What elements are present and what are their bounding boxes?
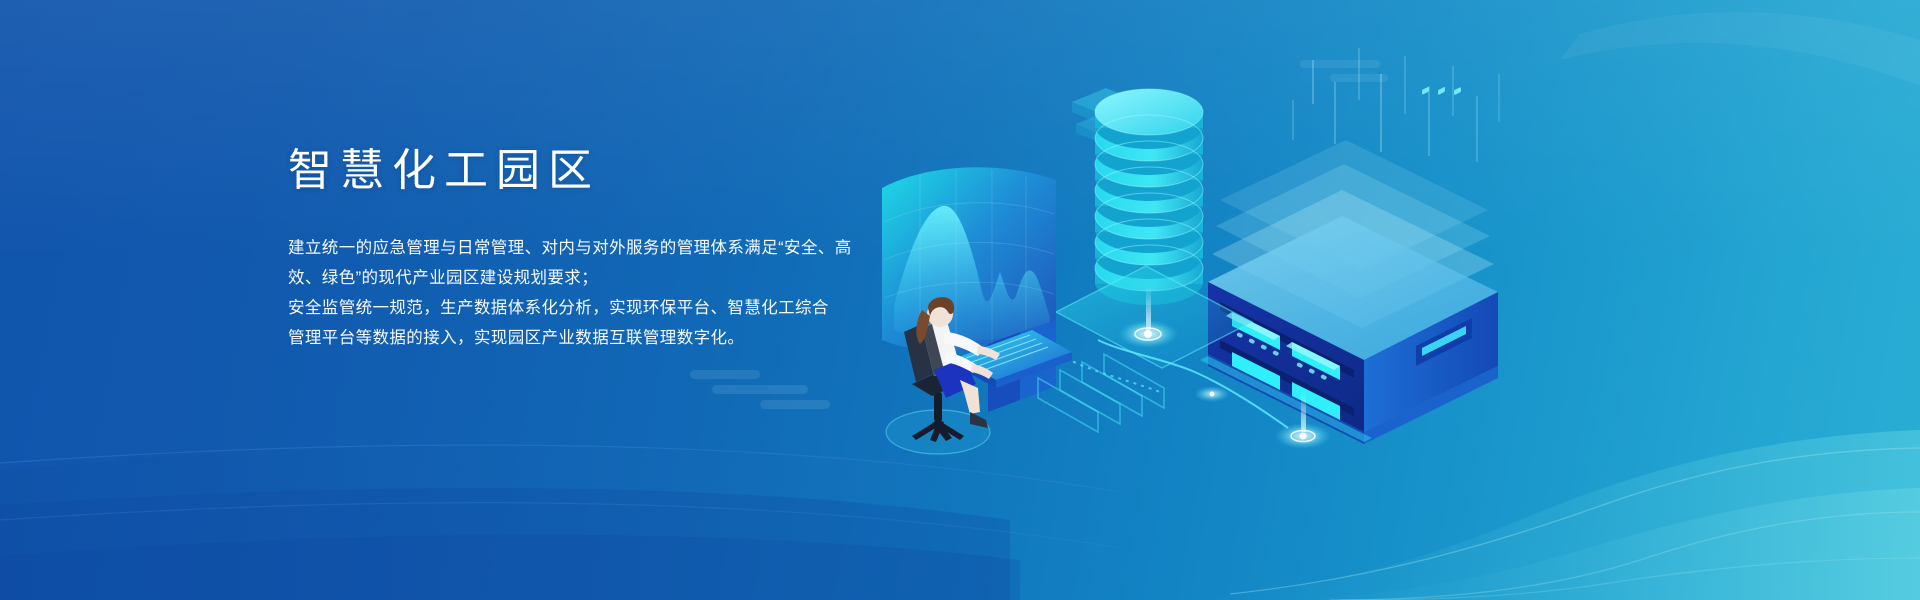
floor-glow-node-secondary: [1194, 386, 1230, 402]
wave-bottom-left-2: [0, 488, 1010, 600]
description-line-1: 建立统一的应急管理与日常管理、对内与对外服务的管理体系满足“安全、高: [288, 233, 888, 263]
wave-line-right-1: [1230, 448, 1920, 594]
wave-bottom-left-3: [0, 535, 1020, 600]
hero-banner: 智慧化工园区 建立统一的应急管理与日常管理、对内与对外服务的管理体系满足“安全、…: [0, 0, 1920, 600]
wave-line-right-3: [1340, 558, 1920, 600]
page-title: 智慧化工园区: [288, 145, 888, 197]
description-line-3: 安全监管统一规范，生产数据体系化分析，实现环保平台、智慧化工综合: [288, 293, 888, 323]
banner-content: 智慧化工园区 建立统一的应急管理与日常管理、对内与对外服务的管理体系满足“安全、…: [288, 145, 888, 353]
wave-bottom-left-1: [0, 445, 1010, 600]
wave-line-left-2: [0, 503, 1120, 548]
ribbon-top-right: [1560, 12, 1920, 86]
description-line-4: 管理平台等数据的接入，实现园区产业数据互联管理数字化。: [288, 323, 888, 353]
floating-dash-group: [690, 370, 830, 409]
banner-description: 建立统一的应急管理与日常管理、对内与对外服务的管理体系满足“安全、高 效、绿色”…: [288, 233, 888, 353]
floor-grid-lines: [1038, 354, 1164, 432]
wave-bottom-right-2: [1240, 488, 1920, 600]
description-line-2: 效、绿色”的现代产业园区建设规划要求；: [288, 263, 888, 293]
falling-data-streams: [1292, 48, 1500, 162]
wave-line-right-2: [1330, 512, 1920, 600]
smart-park-illustration: [860, 40, 1560, 460]
